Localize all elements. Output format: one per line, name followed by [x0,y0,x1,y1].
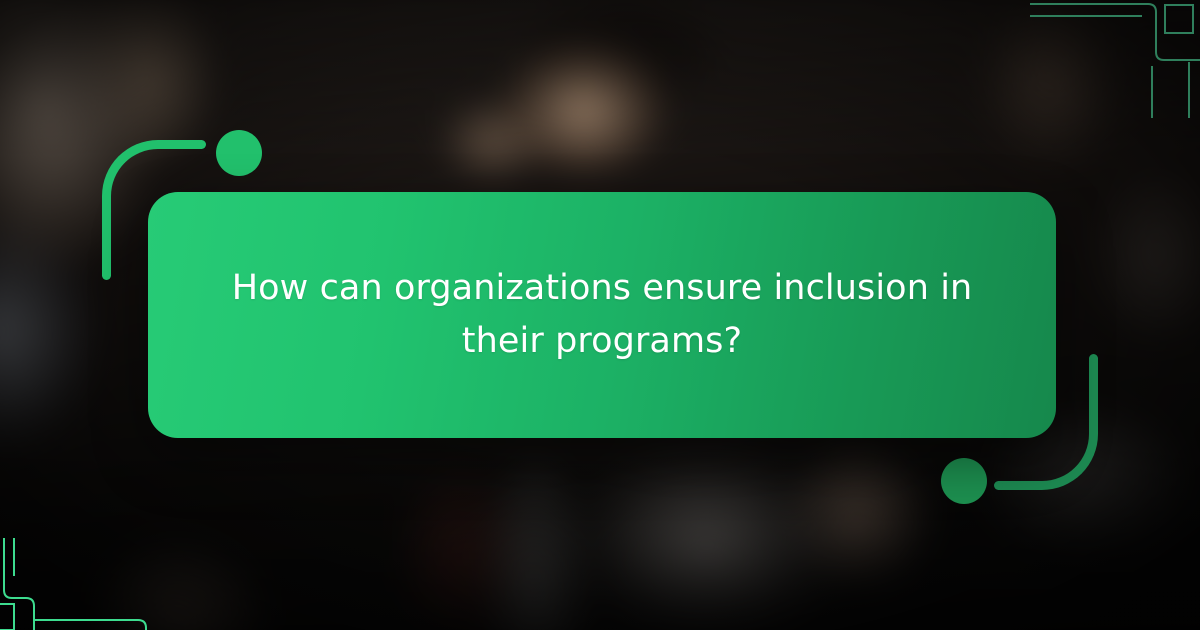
question-text: How can organizations ensure inclusion i… [226,262,978,368]
question-card: How can organizations ensure inclusion i… [148,192,1056,438]
decorative-dot-bottom-right [941,458,987,504]
decorative-dot-top-left [216,130,262,176]
circuit-trace-bottom-left-icon [0,538,250,630]
circuit-trace-top-right-icon [1030,0,1200,118]
social-card-canvas: How can organizations ensure inclusion i… [0,0,1200,630]
